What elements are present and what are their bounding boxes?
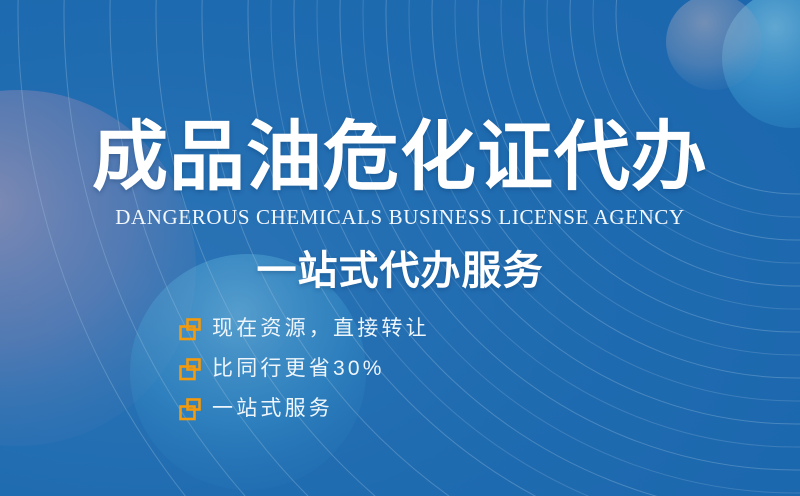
promo-banner: 成品油危化证代办 DANGEROUS CHEMICALS BUSINESS LI…: [0, 0, 800, 496]
page-title: 成品油危化证代办: [0, 116, 800, 200]
overlapping-squares-icon: [179, 398, 201, 421]
page-subtitle-chinese: 一站式代办服务: [0, 246, 800, 296]
overlapping-squares-icon: [179, 358, 201, 381]
overlapping-squares-icon: [179, 318, 201, 341]
list-item: 现在资源，直接转让: [179, 316, 430, 342]
list-item-label: 一站式服务: [212, 396, 333, 422]
list-item: 一站式服务: [179, 396, 430, 422]
list-item: 比同行更省30%: [179, 356, 430, 382]
page-subtitle-english: DANGEROUS CHEMICALS BUSINESS LICENSE AGE…: [0, 204, 800, 230]
list-item-label: 比同行更省30%: [212, 356, 385, 382]
feature-list: 现在资源，直接转让 比同行更省30% 一站式服务: [179, 316, 430, 422]
banner-content: 成品油危化证代办 DANGEROUS CHEMICALS BUSINESS LI…: [0, 0, 800, 496]
list-item-label: 现在资源，直接转让: [212, 316, 430, 342]
